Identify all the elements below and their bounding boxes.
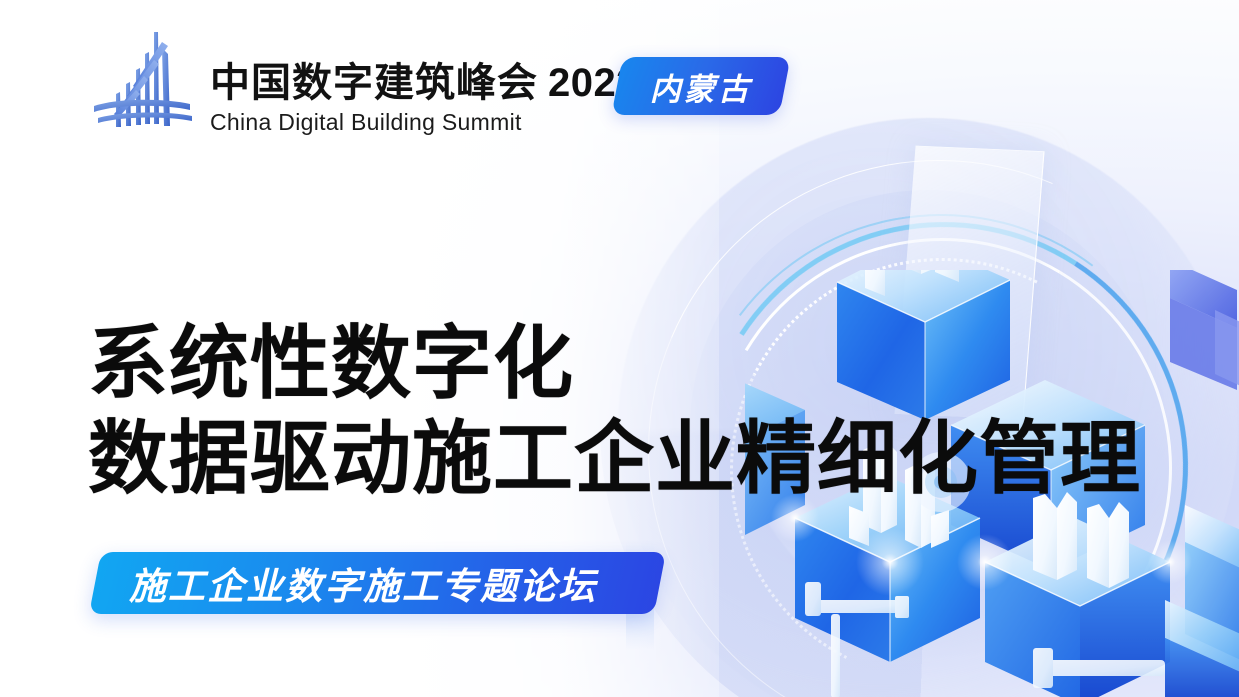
forum-banner-label: 施工企业数字施工专题论坛 [129,556,597,610]
region-badge-label: 内蒙古 [650,64,752,109]
logo-title-cn: 中国数字建筑峰会 [210,62,538,105]
headline-line-1: 系统性数字化 [88,322,1141,407]
logo-wordmark: 中国数字建筑峰会 2023 China Digital Building Sum… [210,62,639,140]
summit-logo[interactable]: 中国数字建筑峰会 2023 China Digital Building Sum… [92,28,639,140]
logo-subtitle-en: China Digital Building Summit [210,109,639,136]
page-title: 系统性数字化 数据驱动施工企业精细化管理 [88,322,1141,502]
region-badge[interactable]: 内蒙古 [611,57,790,115]
poster-canvas: 中国数字建筑峰会 2023 China Digital Building Sum… [0,0,1239,697]
headline-line-2: 数据驱动施工企业精细化管理 [88,417,1141,502]
logo-title-row: 中国数字建筑峰会 2023 [210,62,639,105]
forum-banner[interactable]: 施工企业数字施工专题论坛 [89,552,666,614]
abstract-building-skyline-logo-icon [92,28,196,140]
